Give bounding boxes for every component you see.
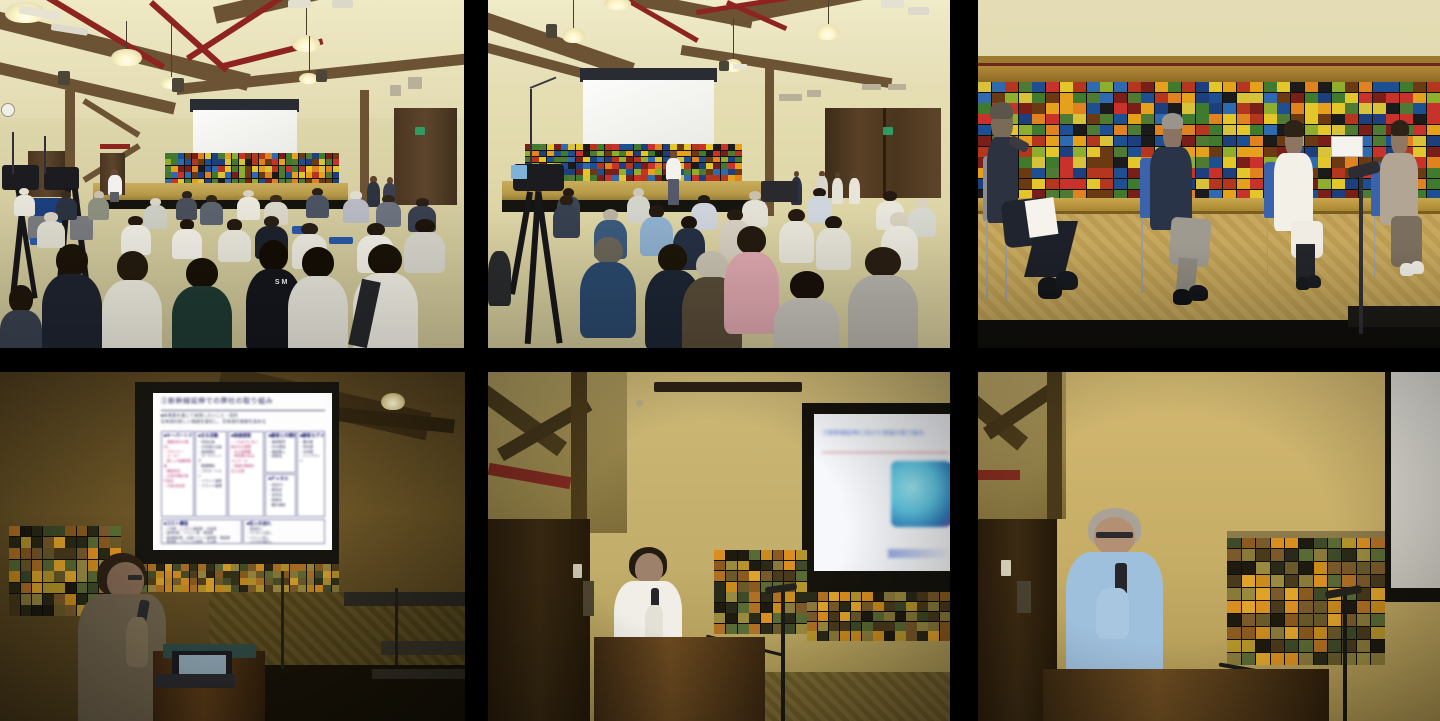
ceiling-lamp — [381, 393, 404, 410]
ceiling-lamp — [562, 28, 585, 44]
audience-member-front — [848, 247, 917, 348]
projection-screen — [1391, 372, 1440, 588]
audience-member — [376, 195, 402, 226]
photo-bottom-right[interactable] — [978, 372, 1440, 721]
video-camera — [44, 167, 79, 190]
standing-attendee — [848, 172, 860, 203]
audience-member-front — [353, 244, 418, 348]
audience-member — [779, 209, 814, 261]
tile-mosaic-mural — [807, 592, 950, 641]
audience-member — [488, 251, 511, 307]
tile-mosaic-mural — [714, 550, 806, 634]
panellist-3 — [1264, 122, 1343, 306]
microphone-stand — [1359, 167, 1363, 334]
standing-attendee — [832, 172, 844, 203]
audience-member — [37, 212, 65, 247]
audience-member — [14, 188, 35, 216]
audience-member-front — [42, 244, 102, 348]
photo-bottom-left[interactable]: ②新幹線延伸での弊社の取り組み ■本事業を通じて実現したいこと・目的 日本酒の新… — [0, 372, 465, 721]
audience-member — [343, 191, 369, 222]
audience-member-front — [774, 271, 839, 348]
audience-member — [176, 191, 197, 219]
microphone-stand — [281, 571, 284, 669]
exit-sign-icon — [415, 127, 425, 135]
audience-member — [88, 191, 109, 219]
ceiling-lamp — [111, 49, 141, 66]
exit-sign-icon — [883, 127, 893, 135]
hall-door — [488, 519, 590, 721]
ceiling-lamp — [816, 24, 839, 39]
photo-top-right[interactable] — [978, 0, 1440, 348]
photo-bottom-center[interactable]: ③新幹線延伸に向けた地域の取り組み — [488, 372, 950, 721]
photo-top-center[interactable] — [488, 0, 950, 348]
hall-door — [394, 108, 457, 205]
audience-member-front — [724, 226, 779, 330]
audience-member — [121, 216, 151, 254]
audience-member-front — [102, 251, 162, 348]
projected-slide: ②新幹線延伸での弊社の取り組み ■本事業を通じて実現したいこと・目的 日本酒の新… — [153, 393, 332, 550]
projected-slide: ③新幹線延伸に向けた地域の取り組み — [814, 414, 950, 571]
microphone-stand — [1343, 595, 1347, 721]
panellist-moderator — [983, 104, 1094, 320]
photo-collage: S M — [0, 0, 1440, 721]
glasses-icon — [128, 575, 142, 580]
speaker — [1066, 508, 1168, 689]
panellist-2 — [1140, 115, 1228, 313]
ceiling-lamp — [292, 35, 320, 52]
audience-member-front — [580, 237, 635, 334]
audience-member-front — [172, 258, 232, 348]
audience-member — [172, 219, 202, 257]
video-camera — [2, 165, 39, 189]
ceiling-lamp — [604, 0, 632, 10]
stage-speaker — [107, 169, 123, 202]
audience-member-front — [288, 247, 348, 348]
audience-member-front — [0, 285, 42, 348]
lectern — [1043, 669, 1329, 721]
microphone-stand — [395, 588, 397, 665]
wall-clock-icon — [1, 103, 15, 118]
tile-mosaic-mural — [1227, 536, 1384, 665]
paper-notes — [1025, 197, 1059, 237]
stage-speaker — [666, 151, 682, 203]
audience-member — [306, 188, 329, 218]
audience-member — [816, 216, 851, 268]
lectern — [594, 637, 765, 721]
tile-mosaic-mural — [165, 153, 339, 184]
audience-member — [553, 195, 581, 237]
glasses-icon — [1096, 532, 1133, 538]
photo-top-left[interactable]: S M — [0, 0, 464, 348]
panellist-4 — [1371, 122, 1440, 303]
